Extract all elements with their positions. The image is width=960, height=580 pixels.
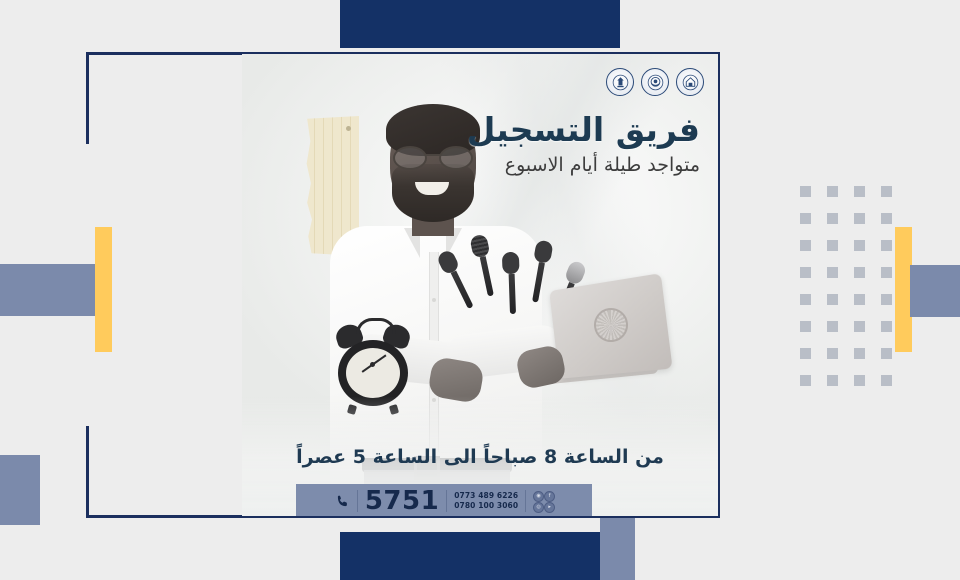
navy-block-top bbox=[340, 0, 620, 48]
phone-number-2: 0780 100 3060 bbox=[454, 501, 518, 510]
facebook-icon[interactable]: f bbox=[544, 491, 555, 502]
contact-bar[interactable]: 5751 0773 489 6226 0780 100 3060 ◉ f ◎ ▸ bbox=[296, 484, 592, 516]
phone-numbers: 0773 489 6226 0780 100 3060 bbox=[454, 491, 518, 511]
slate-block-bottom-right-lower bbox=[600, 528, 635, 580]
navy-block-bottom bbox=[340, 532, 620, 580]
microphone bbox=[502, 252, 521, 315]
dot-grid-right bbox=[800, 186, 892, 386]
frame-line-left-bottom bbox=[86, 426, 89, 518]
emblem-logo-2 bbox=[641, 68, 669, 96]
phone-number-1: 0773 489 6226 bbox=[454, 491, 518, 500]
banner-canvas: فريق التسجيل متواجد طيلة أيام الاسبوع من… bbox=[0, 0, 960, 580]
working-hours-text: من الساعة 8 صباحاً الى الساعة 5 عصراً bbox=[242, 446, 718, 468]
divider bbox=[357, 490, 358, 512]
page-subtitle: متواجد طيلة أيام الاسبوع bbox=[450, 154, 700, 177]
photo-card: فريق التسجيل متواجد طيلة أيام الاسبوع من… bbox=[242, 54, 718, 516]
social-icons-group: ◉ f ◎ ▸ bbox=[533, 491, 553, 511]
slate-block-left bbox=[0, 264, 95, 316]
youtube-icon[interactable]: ▸ bbox=[544, 502, 555, 513]
frame-line-left-top bbox=[86, 52, 89, 144]
instagram-icon[interactable]: ◉ bbox=[533, 491, 544, 502]
divider bbox=[525, 490, 526, 512]
headline-block: فريق التسجيل متواجد طيلة أيام الاسبوع bbox=[450, 112, 700, 177]
page-title: فريق التسجيل bbox=[450, 112, 700, 149]
yellow-bar-left bbox=[95, 227, 112, 352]
microphone bbox=[469, 234, 499, 298]
shirt-button bbox=[432, 298, 436, 302]
slate-block-bottom-left bbox=[0, 455, 40, 525]
emblem-logo-3 bbox=[676, 68, 704, 96]
hotline-number: 5751 bbox=[365, 488, 439, 514]
logo-group bbox=[606, 68, 704, 96]
twitter-icon[interactable]: ◎ bbox=[533, 502, 544, 513]
phone-handset-icon bbox=[335, 494, 350, 509]
slate-block-right bbox=[910, 265, 960, 317]
divider bbox=[446, 490, 447, 512]
emblem-logo-1 bbox=[606, 68, 634, 96]
